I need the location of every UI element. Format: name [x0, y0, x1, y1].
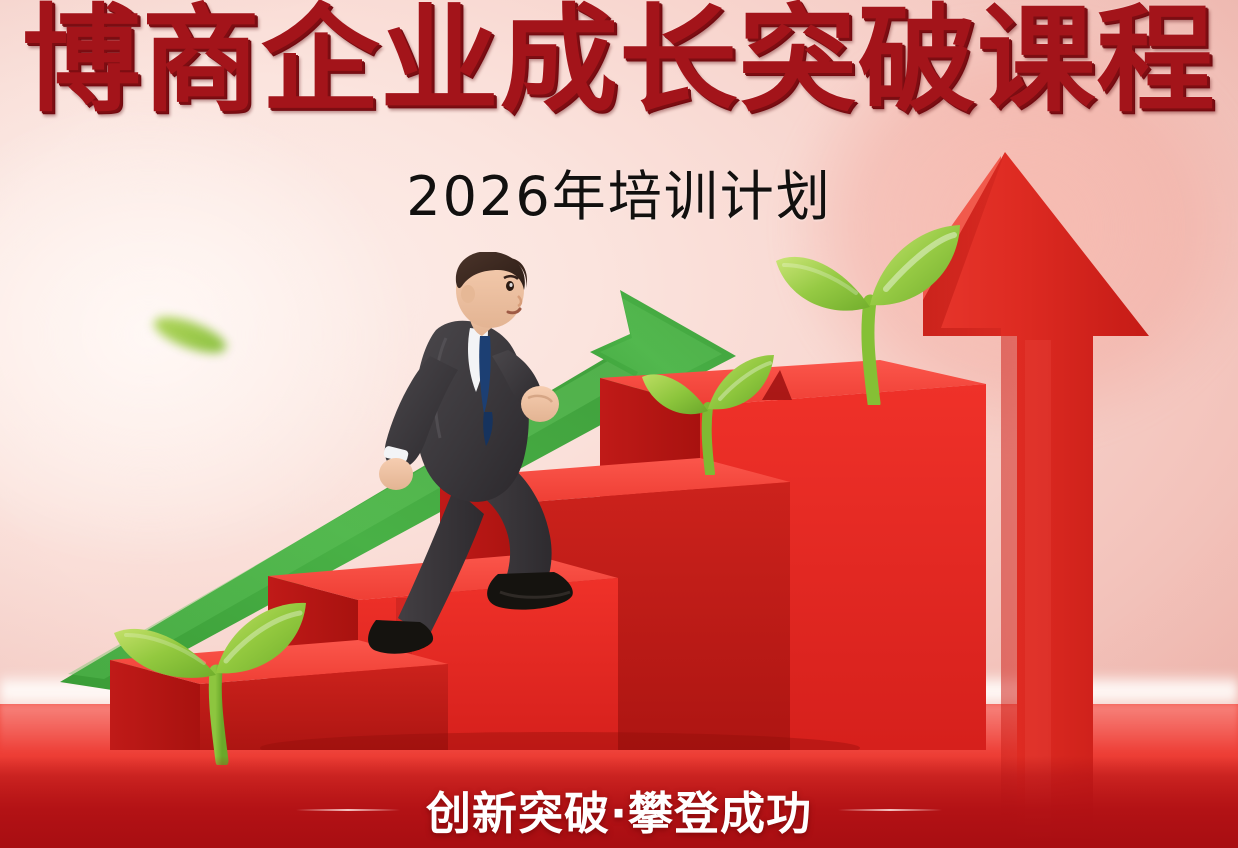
green-sprout-icon [110, 575, 330, 765]
green-sprout-icon [640, 345, 780, 475]
tagline-divider-right [838, 809, 942, 811]
page-title: 博商企业成长突破课程 [0, 0, 1238, 129]
tagline-divider-left [296, 809, 400, 811]
green-sprout-icon [770, 215, 970, 405]
businessman-climbing-icon [358, 252, 618, 672]
page-subtitle: 2026年培训计划 [0, 152, 1238, 231]
tagline-text: 创新突破·攀登成功 [426, 777, 812, 842]
poster-canvas: 博商企业成长突破课程 2026年培训计划 创新突破·攀登成功 [0, 0, 1238, 848]
tagline-row: 创新突破·攀登成功 [0, 777, 1238, 842]
